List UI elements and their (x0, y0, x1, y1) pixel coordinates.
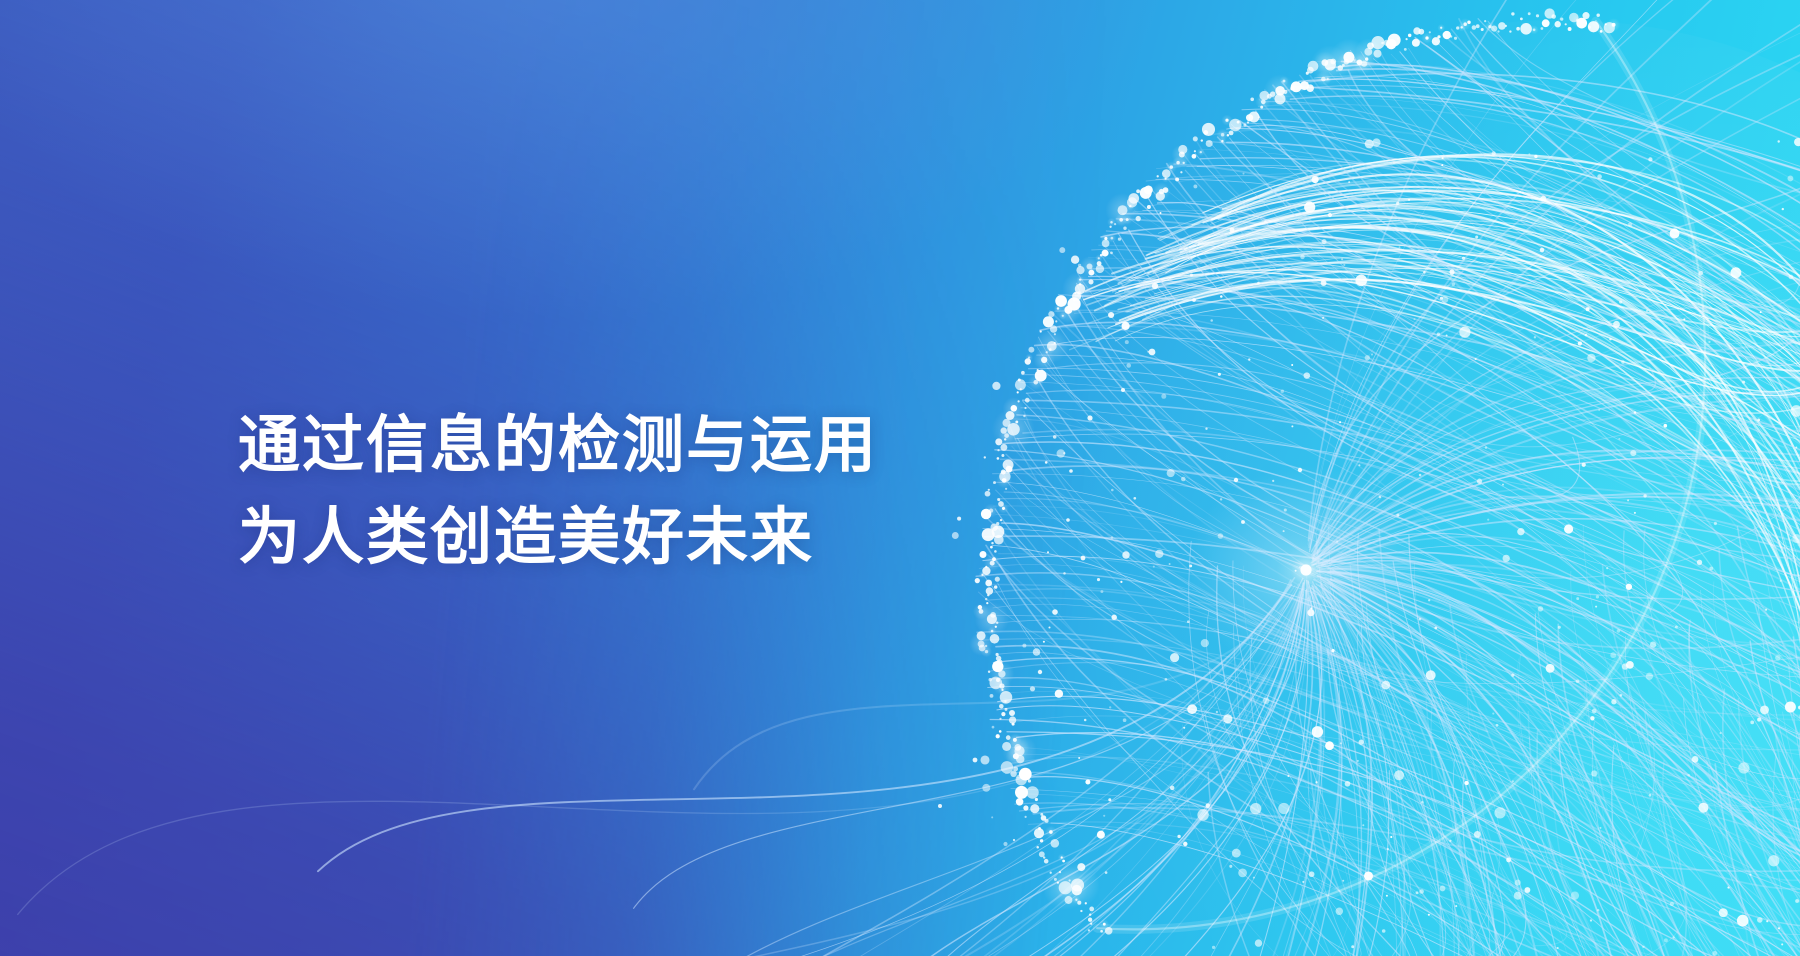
headline-line-2: 为人类创造美好未来 (238, 492, 878, 584)
hero-banner: 通过信息的检测与运用 为人类创造美好未来 (0, 0, 1800, 956)
page-title: 通过信息的检测与运用 为人类创造美好未来 (238, 400, 878, 584)
headline-line-1: 通过信息的检测与运用 (238, 400, 878, 492)
